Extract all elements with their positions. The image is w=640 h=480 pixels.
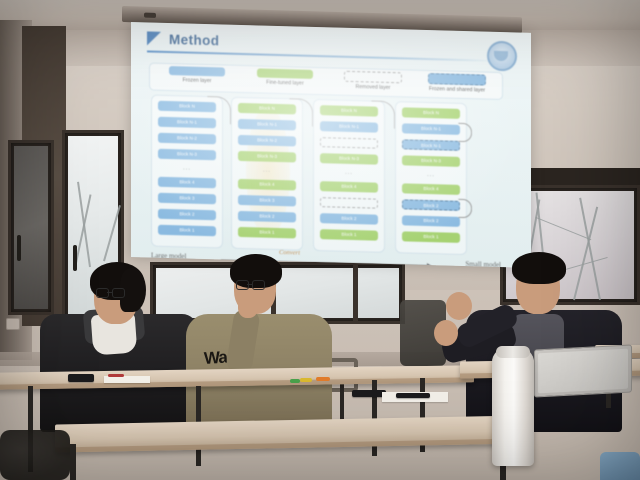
legend-swatch-frozen	[169, 66, 225, 77]
hand	[238, 296, 258, 318]
diagram-block: Block N-1	[238, 119, 296, 130]
diagram-block: Block N-3	[402, 155, 460, 166]
share-loop-icon	[458, 123, 472, 142]
diagram-block: Block 1	[158, 225, 216, 236]
presentation-slide: Method Frozen layer Fine-tuned layer Rem…	[131, 22, 531, 268]
diagram-block: Block 4	[402, 183, 460, 194]
university-emblem-logo	[487, 41, 517, 72]
diagram-block: Block N-1	[320, 121, 378, 132]
diagram-block: Block 3	[158, 193, 216, 204]
diagram-block: Block N-2	[238, 135, 296, 146]
block-ellipsis: ...	[158, 165, 216, 173]
diagram-block	[320, 137, 378, 148]
transition-arrow-icon	[207, 96, 231, 125]
person-left	[36, 262, 206, 422]
legend-label: Frozen and shared layer	[414, 86, 500, 94]
title-triangle-icon	[147, 31, 161, 45]
title-underline	[147, 50, 497, 61]
share-loop-icon	[458, 199, 472, 218]
legend-swatch-shared	[428, 73, 486, 86]
diagram-block: Block N	[402, 107, 460, 118]
diagram-block: Block N-1	[402, 139, 460, 150]
blue-object	[600, 452, 640, 480]
smartphone	[68, 374, 94, 382]
laptop-screen	[538, 349, 628, 394]
housing-knob	[144, 13, 156, 18]
block-ellipsis: ...	[402, 171, 460, 179]
diagram-column-small-model: Block NBlock N-1Block N-1Block N-3...Blo…	[395, 101, 467, 255]
diagram-block	[320, 197, 378, 208]
diagram-block: Block N-3	[320, 153, 378, 164]
pen	[108, 374, 124, 377]
pen	[290, 379, 300, 383]
diagram-block: Block 4	[320, 181, 378, 192]
diagram-block: Block 3	[238, 195, 296, 206]
remote	[396, 393, 430, 398]
legend-item: Removed layer	[330, 70, 416, 91]
legend-label: Removed layer	[330, 83, 416, 91]
hand-left	[434, 320, 458, 346]
bottle-cap	[496, 346, 530, 358]
water-bottle	[492, 348, 534, 466]
legend-item: Frozen layer	[154, 66, 240, 85]
foreground-bag	[0, 430, 70, 480]
transition-arrow-icon	[371, 100, 395, 129]
wall-socket	[6, 318, 20, 330]
diagram-block: Block 2	[320, 213, 378, 224]
pen	[300, 378, 312, 382]
hair	[512, 252, 566, 284]
diagram-block: Block 1	[238, 227, 296, 238]
diagram-block: Block 1	[320, 229, 378, 240]
diagram-block: Block 1	[402, 231, 460, 242]
legend-swatch-finetuned	[257, 68, 313, 79]
classroom-scene: Method Frozen layer Fine-tuned layer Rem…	[0, 0, 640, 480]
diagram-block: Block N	[320, 105, 378, 116]
legend-label: Frozen layer	[154, 77, 240, 85]
slide-title: Method	[169, 32, 219, 48]
block-ellipsis: ...	[320, 169, 378, 177]
pen	[316, 377, 330, 381]
diagram-block: Block N-3	[158, 149, 216, 160]
legend-swatch-removed	[344, 71, 402, 84]
diagram-block: Block N-3	[238, 151, 296, 162]
diagram-block: Block 4	[238, 179, 296, 190]
diagram-block: Block N	[238, 103, 296, 114]
legend-item: Frozen and shared layer	[414, 73, 500, 94]
diagram-block: Block N-1	[402, 123, 460, 134]
laptop	[534, 344, 632, 397]
hand-right	[446, 292, 472, 320]
diagram-block: Block 4	[158, 177, 216, 188]
desk-leg	[70, 444, 76, 480]
diagram-block: Block 2	[238, 211, 296, 222]
diagram-block: Block 2	[158, 209, 216, 220]
smartphone	[352, 390, 386, 397]
diagram-block: Block 2	[402, 215, 460, 226]
person-middle: Was	[186, 252, 336, 422]
diagram-block: Block N-2	[158, 133, 216, 144]
legend-item: Fine-tuned layer	[242, 68, 328, 87]
diagram-block: Block 2	[402, 199, 460, 210]
projection-screen: Method Frozen layer Fine-tuned layer Rem…	[131, 22, 531, 268]
transition-arrow-icon	[289, 98, 313, 127]
legend-label: Fine-tuned layer	[242, 79, 328, 87]
diagram-legend: Frozen layer Fine-tuned layer Removed la…	[149, 62, 503, 100]
papers	[104, 376, 150, 383]
